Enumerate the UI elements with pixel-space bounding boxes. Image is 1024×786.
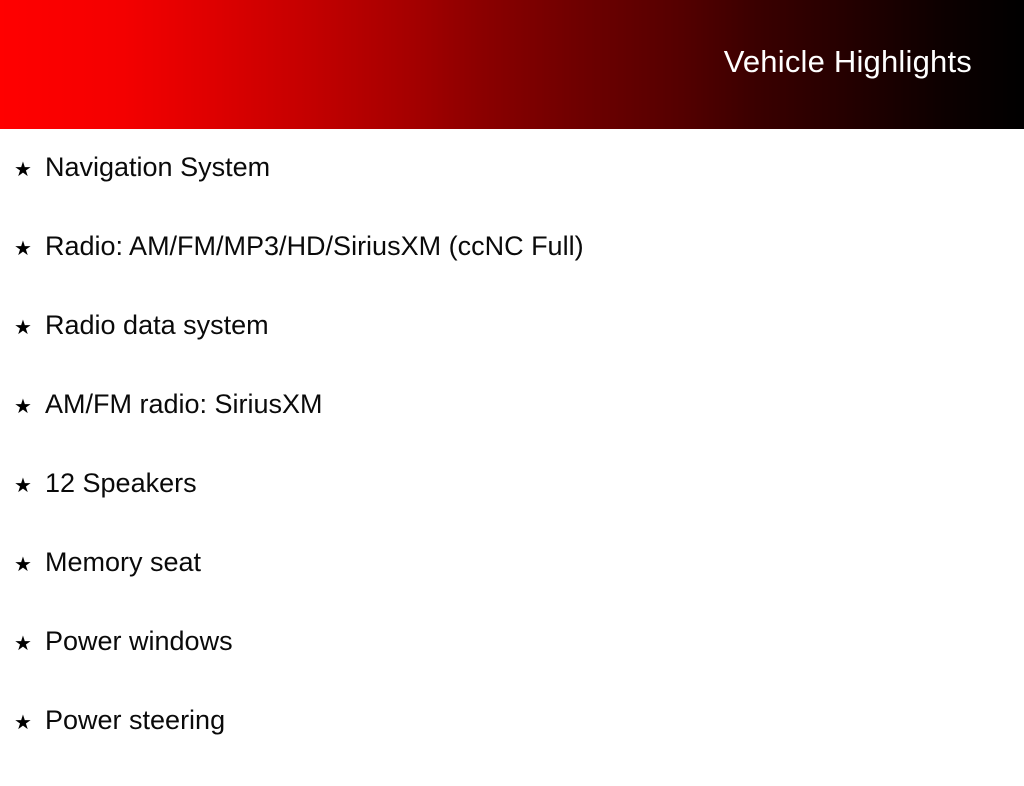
- slide: Vehicle Highlights ★ Navigation System ★…: [0, 0, 1024, 768]
- star-bullet-icon: ★: [14, 554, 45, 574]
- list-item-label: Radio: AM/FM/MP3/HD/SiriusXM (ccNC Full): [45, 233, 584, 260]
- list-item-label: Power steering: [45, 707, 225, 734]
- star-bullet-icon: ★: [14, 238, 45, 258]
- star-bullet-icon: ★: [14, 317, 45, 337]
- star-bullet-icon: ★: [14, 475, 45, 495]
- list-item: ★ Power windows: [0, 628, 1024, 707]
- star-bullet-icon: ★: [14, 712, 45, 732]
- list-item-label: Radio data system: [45, 312, 269, 339]
- vehicle-highlights-list: ★ Navigation System ★ Radio: AM/FM/MP3/H…: [0, 129, 1024, 786]
- list-item-label: Memory seat: [45, 549, 201, 576]
- star-bullet-icon: ★: [14, 633, 45, 653]
- list-item: ★ 12 Speakers: [0, 470, 1024, 549]
- list-item-label: Power windows: [45, 628, 233, 655]
- list-item: ★ Navigation System: [0, 129, 1024, 233]
- list-item: ★ Radio data system: [0, 312, 1024, 391]
- list-item-label: 12 Speakers: [45, 470, 197, 497]
- list-item: ★ AM/FM radio: SiriusXM: [0, 391, 1024, 470]
- page-title: Vehicle Highlights: [724, 46, 972, 77]
- list-item-label: AM/FM radio: SiriusXM: [45, 391, 323, 418]
- list-item: ★ Power steering: [0, 707, 1024, 786]
- list-item: ★ Memory seat: [0, 549, 1024, 628]
- list-item: ★ Radio: AM/FM/MP3/HD/SiriusXM (ccNC Ful…: [0, 233, 1024, 312]
- star-bullet-icon: ★: [14, 396, 45, 416]
- header-band: Vehicle Highlights: [0, 0, 1024, 129]
- list-item-label: Navigation System: [45, 154, 270, 181]
- star-bullet-icon: ★: [14, 159, 45, 179]
